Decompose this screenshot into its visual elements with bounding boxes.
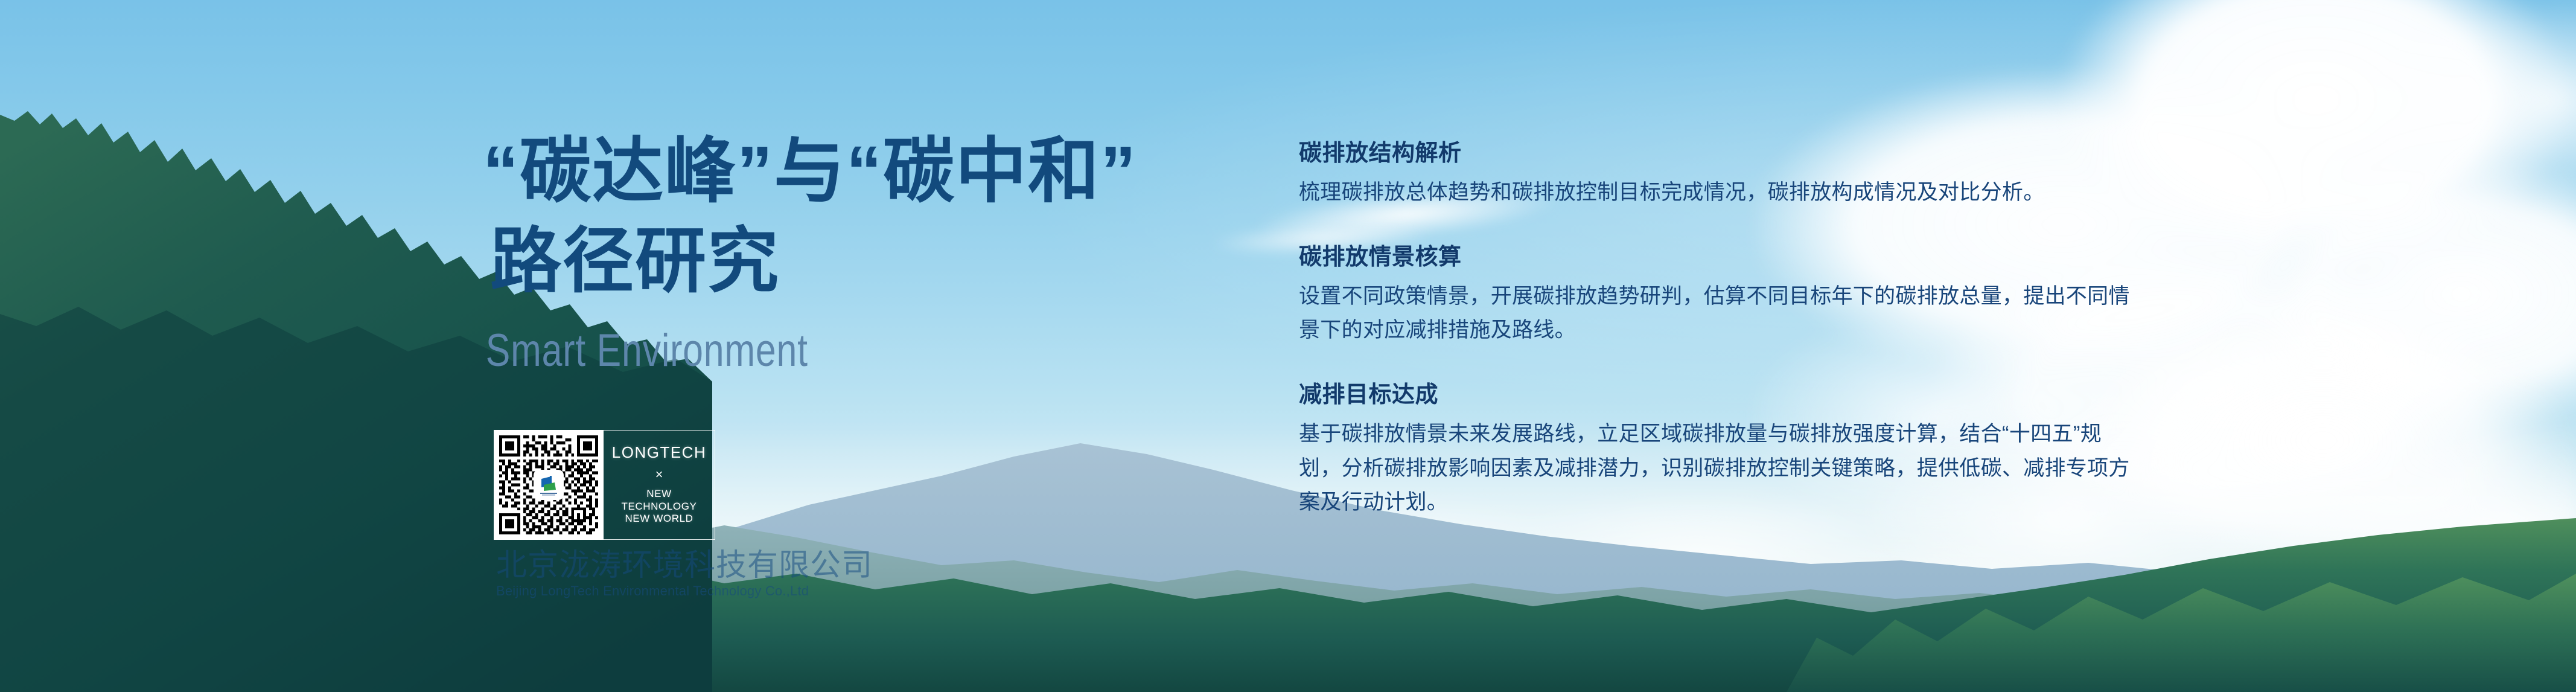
info-body: 梳理碳排放总体趋势和碳排放控制目标完成情况，碳排放构成情况及对比分析。 <box>1299 176 2144 210</box>
tagline: NEW TECHNOLOGY NEW WORLD <box>621 488 697 525</box>
marketing-banner: “碳达峰”与“碳中和” 路径研究 Smart Environment 碳排放结构… <box>0 0 2576 692</box>
page-subtitle: Smart Environment <box>483 324 1053 377</box>
qr-slogan-panel: LONGTECH × NEW TECHNOLOGY NEW WORLD <box>494 430 715 540</box>
hero-title-block: “碳达峰”与“碳中和” 路径研究 Smart Environment <box>483 127 1195 377</box>
cross-separator-icon: × <box>655 468 663 481</box>
info-body: 设置不同政策情景，开展碳排放趋势研判，估算不同目标年下的碳排放总量，提出不同情景… <box>1299 280 2144 348</box>
tagline-line3: NEW WORLD <box>621 513 697 525</box>
info-block-reduction-target: 减排目标达成 基于碳排放情景未来发展路线，立足区域碳排放量与碳排放强度计算，结合… <box>1299 376 2144 520</box>
brand-name: LONGTECH <box>612 444 706 460</box>
brand-slogan-box: LONGTECH × NEW TECHNOLOGY NEW WORLD <box>604 430 715 540</box>
company-logo-icon <box>535 471 563 499</box>
info-body: 基于碳排放情景未来发展路线，立足区域碳排放量与碳排放强度计算，结合“十四五”规划… <box>1299 417 2144 520</box>
tagline-line2: TECHNOLOGY <box>621 501 697 513</box>
info-heading: 碳排放结构解析 <box>1299 134 2144 167</box>
info-heading: 减排目标达成 <box>1299 376 2144 409</box>
info-column: 碳排放结构解析 梳理碳排放总体趋势和碳排放控制目标完成情况，碳排放构成情况及对比… <box>1299 134 2144 520</box>
info-block-carbon-structure: 碳排放结构解析 梳理碳排放总体趋势和碳排放控制目标完成情况，碳排放构成情况及对比… <box>1299 134 2144 210</box>
page-title-line2: 路径研究 <box>483 217 1195 307</box>
info-heading: 碳排放情景核算 <box>1299 238 2144 271</box>
tagline-line1: NEW <box>621 488 697 501</box>
page-title-line1: “碳达峰”与“碳中和” <box>483 127 1195 217</box>
qr-code-card[interactable] <box>494 430 604 540</box>
info-block-scenario-accounting: 碳排放情景核算 设置不同政策情景，开展碳排放趋势研判，估算不同目标年下的碳排放总… <box>1299 238 2144 348</box>
